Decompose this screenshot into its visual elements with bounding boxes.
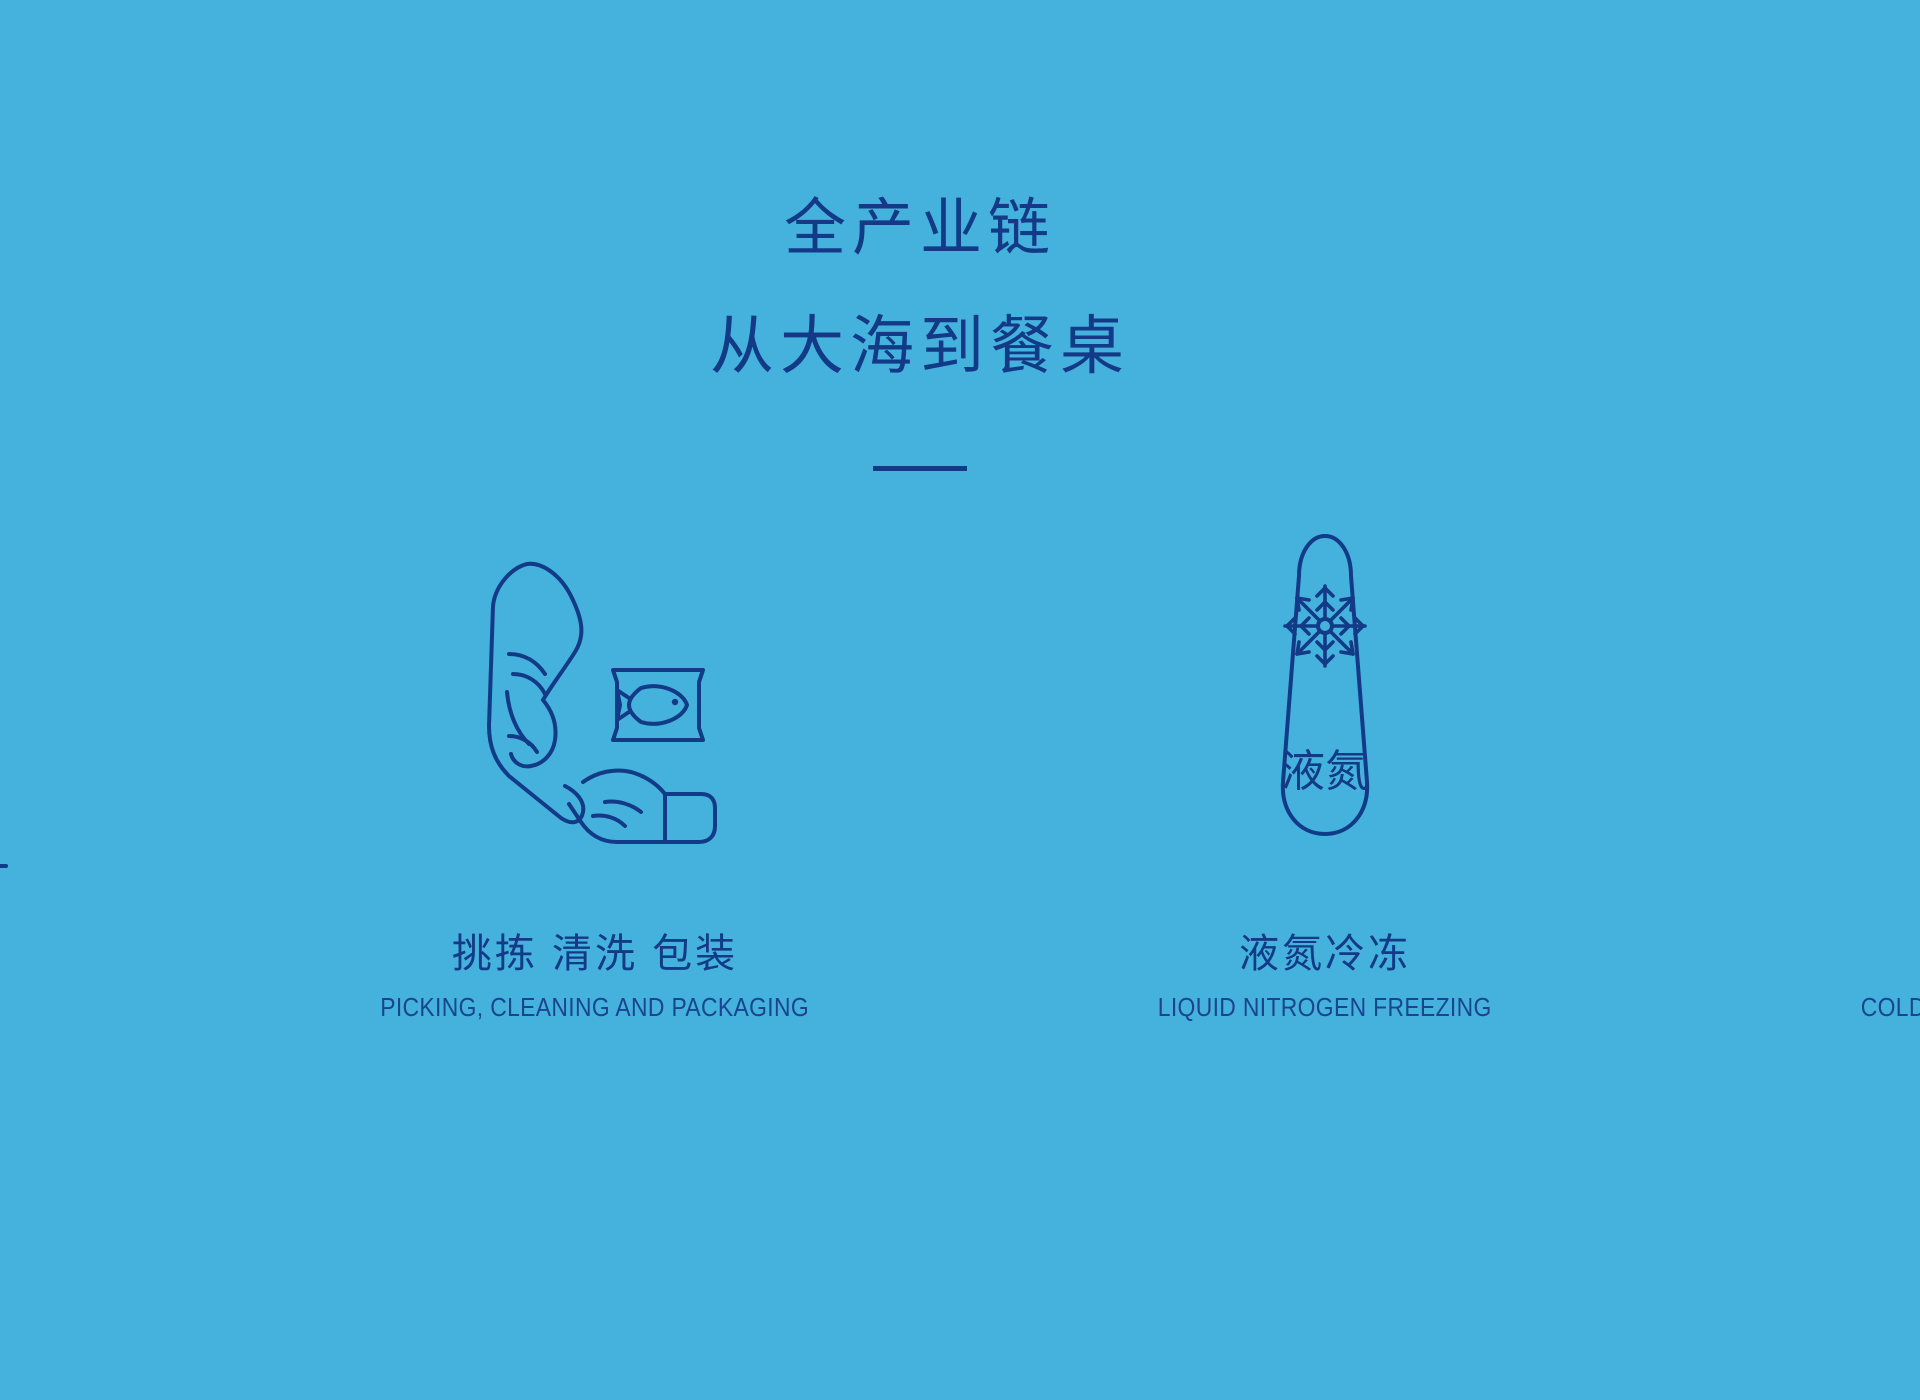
step-fishing-at-sea: 出海捕捞 FISHING AT SEA	[0, 530, 118, 1026]
step-label-cn: 冷链运输	[1836, 928, 1920, 980]
step-label-cn: 液氮冷冻	[1135, 928, 1514, 980]
heading-divider	[873, 466, 967, 471]
step-picking-cleaning-packaging: 挑拣 清洗 包装 PICKING, CLEANING AND PACKAGING	[355, 530, 835, 1026]
snowflake-icon	[1285, 586, 1365, 666]
heading-divider-wrap	[0, 458, 1840, 476]
liquid-nitrogen-tank-icon: 液氮	[1255, 530, 1395, 850]
page-title-line-2: 从大海到餐桌	[0, 288, 1840, 406]
step-label-en: COLD CHAIN TRANSPORTATION	[1860, 988, 1920, 1026]
process-steps: 出海捕捞 FISHING AT SEA	[0, 530, 1920, 1026]
step-label-cn: 挑拣 清洗 包装	[351, 928, 838, 980]
step-cold-chain-transportation: 冷链运输 COLD CHAIN TRANSPORTATION	[1802, 530, 1920, 1026]
tank-label-text: 液氮	[1281, 747, 1369, 796]
step-liquid-nitrogen-freezing: 液氮 液氮冷冻 LIQUID NITROGEN FREEZING	[1085, 530, 1565, 1026]
step-label-en: LIQUID NITROGEN FREEZING	[1158, 988, 1492, 1026]
hands-with-packaged-fish-icon	[465, 550, 725, 850]
page-root: 全产业链 从大海到餐桌	[0, 0, 1920, 1400]
step-labels: 液氮冷冻 LIQUID NITROGEN FREEZING	[1135, 928, 1514, 1026]
step-icon-wrap: 液氮	[1255, 530, 1395, 850]
page-title-line-1: 全产业链	[0, 170, 1840, 288]
page-title: 全产业链 从大海到餐桌	[0, 170, 1840, 406]
step-labels: 冷链运输 COLD CHAIN TRANSPORTATION	[1836, 928, 1920, 1026]
step-label-en: PICKING, CLEANING AND PACKAGING	[381, 988, 810, 1026]
step-labels: 挑拣 清洗 包装 PICKING, CLEANING AND PACKAGING	[351, 928, 838, 1026]
step-icon-wrap	[465, 530, 725, 850]
